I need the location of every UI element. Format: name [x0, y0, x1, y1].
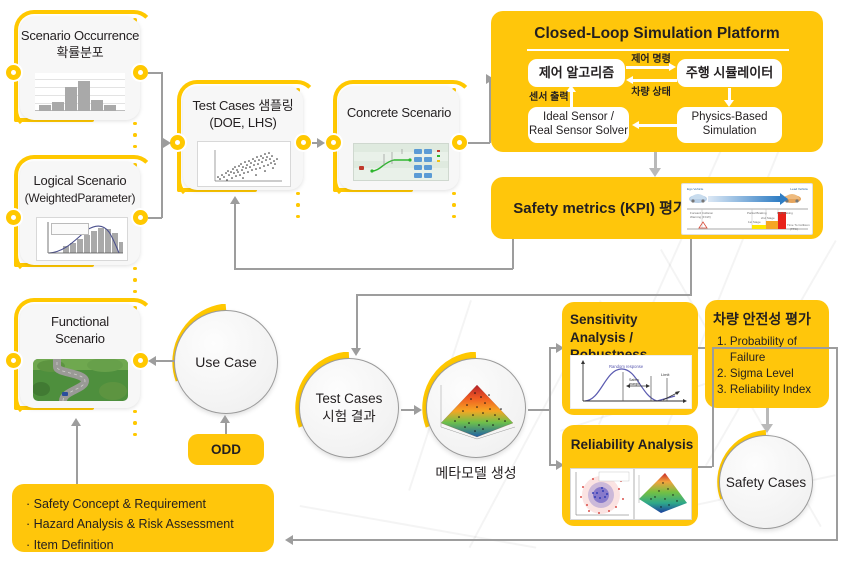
platform-block-physics-simulation[interactable]: Physics-Based Simulation — [677, 107, 782, 143]
safety-cases-label: Safety Cases — [726, 475, 806, 490]
vehicle-safety-assessment-box[interactable]: 차량 안전성 평가 1. Probability of Failure 2. S… — [705, 300, 829, 408]
vehicle-safety-item-3: 3. Reliability Index — [717, 382, 827, 398]
arrow-vehiclesafety-to-safetycases — [761, 424, 773, 433]
connector-reliability-column — [712, 347, 714, 467]
connector-logical-to-sampling — [148, 217, 162, 219]
circle-metamodel[interactable] — [426, 358, 526, 458]
node-concrete-scenario-right — [452, 135, 467, 150]
watermark — [300, 505, 537, 548]
card-functional-scenario[interactable]: Functional Scenario — [20, 305, 140, 408]
concrete-scenario-title: Concrete Scenario — [347, 105, 451, 122]
functional-scenario-line1: Functional — [51, 314, 109, 329]
edge-physics-to-sensor — [639, 124, 677, 127]
node-concrete-scenario-left — [326, 135, 341, 150]
card-scenario-occurrence[interactable]: Scenario Occurrence 확률분포 — [20, 17, 140, 120]
concrete-scenario-line1: Concrete Scenario — [347, 105, 451, 120]
node-test-case-sampling-right — [296, 135, 311, 150]
connector-metamodel-split — [549, 347, 551, 465]
kpi-full-braking-label: Full Braking — [777, 211, 793, 215]
functional-scenario-title: Functional Scenario — [51, 314, 109, 347]
connector-kpi-feedback-vert — [512, 239, 514, 269]
edge-label-vehicle-state: 차량 상태 — [621, 83, 681, 98]
node-functional-scenario-right — [133, 353, 148, 368]
scenario-occurrence-line2: 확률분포 — [56, 45, 103, 60]
test-case-results-line2: 시험 결과 — [322, 408, 375, 426]
safety-concept-box[interactable]: · Safety Concept & Requirement · Hazard … — [12, 484, 274, 552]
platform-divider — [527, 49, 789, 51]
reliability-analysis-box[interactable]: Reliability Analysis — [562, 425, 698, 526]
arrow-usecase-to-functional — [148, 356, 156, 366]
kpi-thumbnail: Ego Vehicle Lead Vehicle — [681, 183, 813, 235]
connector-occurrence-vert — [161, 72, 163, 142]
circle-test-case-results[interactable]: Test Cases 시험 결과 — [299, 358, 399, 458]
arrow-simulator-to-control — [626, 76, 633, 84]
kpi-stage1-label: 1st Stage — [748, 220, 761, 224]
node-logical-scenario-right — [133, 210, 148, 225]
arrow-simulator-to-physics — [724, 100, 734, 107]
edge-label-sensor-output: 센서 출력 — [529, 88, 589, 103]
circle-safety-cases[interactable]: Safety Cases — [719, 435, 813, 529]
platform-title: Closed-Loop Simulation Platform — [491, 25, 823, 43]
odd-label: ODD — [211, 442, 241, 457]
arrow-testcases-to-metamodel — [414, 405, 422, 415]
connector-right-column-vert — [836, 347, 838, 475]
node-logical-scenario-left — [6, 210, 21, 225]
closed-loop-simulation-platform[interactable]: Closed-Loop Simulation Platform 제어 알고리즘 … — [491, 11, 823, 152]
connector-occurrence-to-sampling — [148, 72, 162, 74]
connector-kpi-down-to-testcase — [356, 294, 358, 350]
safety-concept-items: · Safety Concept & Requirement · Hazard … — [26, 494, 266, 555]
test-case-sampling-title: Test Cases 샘플링 (DOE, LHS) — [193, 98, 294, 131]
platform-block-driving-simulator[interactable]: 주행 시뮬레이터 — [677, 59, 782, 87]
reliability-scatter-thumbnail — [570, 468, 634, 520]
reliability-title: Reliability Analysis — [570, 437, 694, 452]
arrow-physics-to-sensor — [632, 121, 639, 129]
connector-kpi-feedback-horz — [234, 268, 513, 270]
physics-simulation-line1: Physics-Based — [691, 111, 767, 125]
arrow-platform-to-kpi — [649, 168, 661, 177]
functional-scenario-line2: Scenario — [55, 331, 105, 346]
reliability-surface-thumbnail — [634, 468, 692, 520]
arrow-sampling-to-concrete — [317, 138, 325, 148]
logical-scenario-line2: (WeightedParameter) — [25, 191, 136, 205]
scenario-occurrence-line1: Scenario Occurrence — [21, 28, 139, 43]
metamodel-caption: 메타모델 생성 — [426, 463, 526, 483]
kpi-partial-braking-label: Partial Braking — [747, 211, 767, 215]
node-scenario-occurrence-left — [6, 65, 21, 80]
connector-kpi-feedback-up — [234, 201, 236, 269]
physics-simulation-line2: Simulation — [703, 125, 757, 139]
card-logical-scenario[interactable]: Logical Scenario (WeightedParameter) — [20, 162, 140, 265]
arrow-kpi-down-to-testcase — [351, 348, 361, 356]
use-case-label: Use Case — [195, 354, 256, 370]
connector-reliability-out — [698, 466, 712, 468]
control-algorithm-label: 제어 알고리즘 — [539, 65, 614, 81]
surface-3d-thumbnail — [435, 379, 519, 441]
svg-text:Limit: Limit — [661, 372, 670, 377]
safety-concept-item-1: · Safety Concept & Requirement — [26, 494, 266, 514]
safety-concept-item-3: · Item Definition — [26, 535, 266, 555]
arrow-odd-to-usecase — [220, 415, 230, 423]
node-test-case-sampling-left — [170, 135, 185, 150]
sensitivity-line1: Sensitivity Analysis / — [570, 312, 638, 345]
node-functional-scenario-left — [6, 353, 21, 368]
edge-simulator-to-control — [633, 79, 677, 82]
test-case-sampling-line2: (DOE, LHS) — [209, 115, 276, 130]
kpi-fcw2-label: Warning (FCW) — [690, 215, 711, 219]
sensor-solver-line1: Ideal Sensor / — [543, 111, 614, 125]
test-case-results-line1: Test Cases — [316, 390, 383, 408]
histogram-thumbnail — [35, 73, 125, 111]
arrow-sensor-to-control — [566, 85, 576, 92]
card-test-case-sampling[interactable]: Test Cases 샘플링 (DOE, LHS) — [183, 87, 303, 190]
connector-kpi-down-vert — [690, 239, 692, 295]
svg-text:margin: margin — [629, 382, 640, 386]
svg-text:Random response: Random response — [609, 364, 644, 369]
kpi-ttc2-label: (TTC) — [790, 227, 798, 231]
arrow-kpi-feedback — [230, 196, 240, 204]
road-photo-thumbnail — [33, 359, 128, 401]
vehicle-safety-items: 1. Probability of Failure 2. Sigma Level… — [717, 334, 827, 398]
sensor-solver-line2: Real Sensor Solver — [529, 125, 628, 139]
edge-sensor-to-control — [570, 91, 573, 107]
vehicle-safety-item-2: 2. Sigma Level — [717, 366, 827, 382]
card-concrete-scenario[interactable]: Concrete Scenario — [339, 87, 459, 190]
connector-kpi-down-horz — [356, 294, 692, 296]
scenario-occurrence-title: Scenario Occurrence 확률분포 — [21, 28, 139, 61]
sensitivity-curve-thumbnail: Random response Safety margin Limit — [570, 355, 692, 409]
diagram-canvas: Scenario Occurrence 확률분포 Logical Scen — [0, 0, 841, 561]
logical-scenario-line1: Logical Scenario — [34, 173, 127, 188]
safety-metrics-kpi[interactable]: Safety metrics (KPI) 평가 Ego Vehicle Lead… — [491, 177, 823, 239]
kpi-stage2-label: 2nd Stage — [761, 216, 775, 220]
edge-control-to-simulator — [626, 66, 669, 69]
connector-safetycases-down — [836, 475, 838, 540]
scenario-editor-thumbnail — [353, 143, 449, 181]
weighted-histogram-thumbnail — [36, 217, 128, 261]
safety-metrics-label: Safety metrics (KPI) 평가 — [505, 197, 695, 218]
connector-concrete-to-platform — [468, 142, 490, 144]
connector-bottom-feedback — [290, 539, 838, 541]
connector-metamodel-out — [528, 409, 550, 411]
test-case-sampling-line1: Test Cases 샘플링 — [193, 98, 294, 113]
odd-box[interactable]: ODD — [188, 434, 264, 465]
connector-safetyconcept-to-functional — [76, 424, 78, 484]
arrow-bottom-feedback — [285, 535, 293, 545]
safety-concept-item-2: · Hazard Analysis & Risk Assessment — [26, 514, 266, 534]
arrow-control-to-simulator — [669, 63, 676, 71]
arrow-safetyconcept-to-functional — [71, 418, 81, 426]
vehicle-safety-title: 차량 안전성 평가 — [713, 309, 821, 329]
vehicle-safety-item-1b: Failure — [717, 350, 827, 366]
circle-use-case[interactable]: Use Case — [174, 310, 278, 414]
arrow-to-sampling — [163, 138, 171, 148]
platform-block-control-algorithm[interactable]: 제어 알고리즘 — [528, 59, 625, 87]
sensitivity-analysis-box[interactable]: Sensitivity Analysis / Robustness Analys… — [562, 302, 698, 415]
platform-block-sensor-solver[interactable]: Ideal Sensor / Real Sensor Solver — [528, 107, 629, 143]
logical-scenario-title: Logical Scenario (WeightedParameter) — [25, 173, 136, 206]
connector-right-top — [712, 347, 837, 349]
scatter-thumbnail — [197, 141, 291, 187]
node-scenario-occurrence-right — [133, 65, 148, 80]
driving-simulator-label: 주행 시뮬레이터 — [686, 65, 773, 81]
connector-logical-vert — [161, 142, 163, 218]
